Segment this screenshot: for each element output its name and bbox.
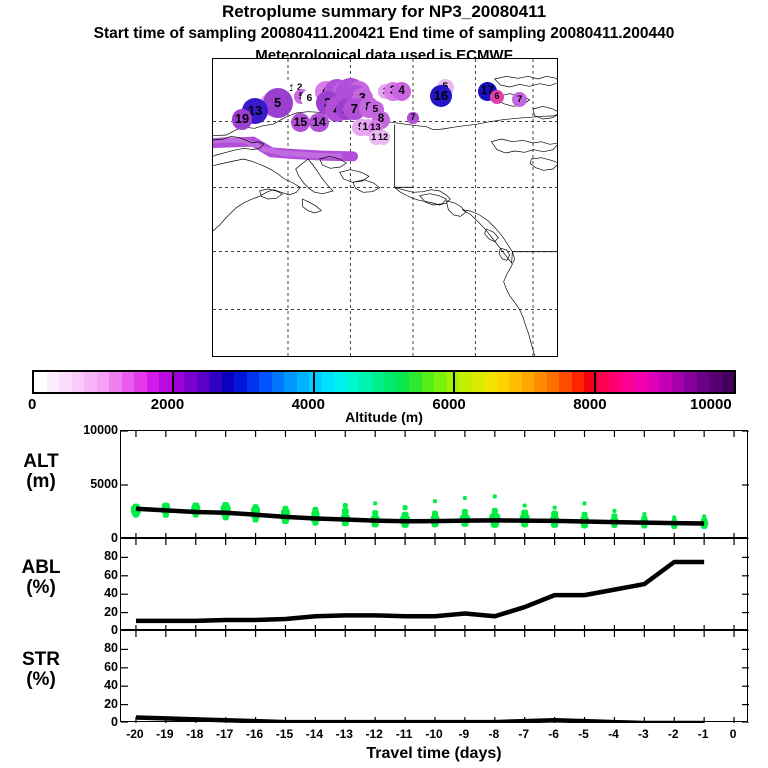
x-tick-label: -15 [276, 727, 293, 741]
x-tick-label: -5 [578, 727, 589, 741]
colorbar-swatch [159, 372, 172, 392]
y-tick-label: 0 [4, 715, 118, 729]
x-tick-label: -9 [459, 727, 470, 741]
x-tick-label: -8 [488, 727, 499, 741]
axis-ticks [121, 631, 749, 723]
colorbar-swatch [409, 372, 422, 392]
y-tick-label: 40 [4, 586, 118, 600]
colorbar-swatch [184, 372, 197, 392]
x-tick-label: -17 [216, 727, 233, 741]
y-tick-label: 10000 [4, 423, 118, 437]
mean-line [136, 717, 704, 723]
x-tick-label: -14 [306, 727, 323, 741]
x-tick-label: -3 [638, 727, 649, 741]
plume-marker: 7 [407, 112, 418, 123]
plume-marker: 15 [291, 113, 311, 133]
y-tick-label: 60 [4, 660, 118, 674]
colorbar-swatch [72, 372, 85, 392]
colorbar-swatch [247, 372, 260, 392]
mean-line [136, 562, 704, 621]
plume-marker: 12 [376, 130, 390, 144]
y-tick-label: 60 [4, 568, 118, 582]
x-tick-label: -19 [156, 727, 173, 741]
x-tick-label: -4 [608, 727, 619, 741]
colorbar-swatch [284, 372, 297, 392]
colorbar-swatch [622, 372, 635, 392]
colorbar-swatch [322, 372, 335, 392]
colorbar-swatch [59, 372, 72, 392]
colorbar-swatch [384, 372, 397, 392]
colorbar-separator [453, 370, 455, 394]
colorbar-swatch [147, 372, 160, 392]
colorbar-swatch [297, 372, 310, 392]
abl-plot [121, 539, 749, 631]
x-tick-label: -13 [336, 727, 353, 741]
colorbar-swatch [334, 372, 347, 392]
colorbar-swatch [234, 372, 247, 392]
colorbar-separator [313, 370, 315, 394]
colorbar-swatch [84, 372, 97, 392]
colorbar-swatch [309, 372, 322, 392]
y-tick-label: 0 [4, 623, 118, 637]
colorbar-swatch [197, 372, 210, 392]
x-tick-label: -2 [668, 727, 679, 741]
plume-marker: 4 [392, 82, 411, 101]
colorbar-swatch [572, 372, 585, 392]
colorbar-swatch [434, 372, 447, 392]
x-tick-label: -7 [518, 727, 529, 741]
colorbar-swatch [97, 372, 110, 392]
altitude-plot [121, 431, 749, 539]
page-title: Retroplume summary for NP3_20080411 [0, 2, 768, 22]
colorbar-separator [172, 370, 174, 394]
colorbar-swatch [509, 372, 522, 392]
y-tick-label: 0 [4, 531, 118, 545]
colorbar-swatch [122, 372, 135, 392]
x-tick-label: -6 [548, 727, 559, 741]
map-inner-border [395, 125, 558, 252]
colorbar-swatch [347, 372, 360, 392]
plume-marker: 19 [232, 109, 253, 130]
colorbar-swatch [697, 372, 710, 392]
colorbar-swatch [34, 372, 47, 392]
colorbar-swatch [272, 372, 285, 392]
x-tick-label: -18 [186, 727, 203, 741]
x-tick-label: -11 [396, 727, 413, 741]
colorbar-swatch [372, 372, 385, 392]
colorbar-swatch [109, 372, 122, 392]
colorbar-swatch [597, 372, 610, 392]
colorbar-swatch [684, 372, 697, 392]
plume-marker: 14 [309, 113, 329, 133]
colorbar-swatch [722, 372, 735, 392]
colorbar-swatch [547, 372, 560, 392]
colorbar-swatch [634, 372, 647, 392]
colorbar-swatch [659, 372, 672, 392]
colorbar-swatch [472, 372, 485, 392]
x-tick-label: -16 [246, 727, 263, 741]
colorbar-swatch [259, 372, 272, 392]
y-tick-label: 5000 [4, 477, 118, 491]
colorbar-swatch [422, 372, 435, 392]
colorbar-swatch [397, 372, 410, 392]
sampling-time-subtitle: Start time of sampling 20080411.200421 E… [0, 25, 768, 43]
colorbar-swatch [522, 372, 535, 392]
abl-timeseries-panel [120, 538, 748, 630]
colorbar-separator [594, 370, 596, 394]
str-plot [121, 631, 749, 723]
y-tick-label: 20 [4, 697, 118, 711]
colorbar-swatch [647, 372, 660, 392]
colorbar-swatch [47, 372, 60, 392]
mean-line [136, 509, 704, 524]
x-tick-label: -12 [366, 727, 383, 741]
colorbar-swatch [134, 372, 147, 392]
plume-trail [213, 140, 353, 156]
x-tick-label: -20 [126, 727, 143, 741]
str-timeseries-panel [120, 630, 748, 722]
colorbar-swatch [209, 372, 222, 392]
colorbar-swatch [559, 372, 572, 392]
x-tick-label: 0 [730, 727, 737, 741]
y-tick-label: 80 [4, 641, 118, 655]
colorbar-swatch [672, 372, 685, 392]
colorbar-swatch [359, 372, 372, 392]
altitude-colorbar [32, 370, 736, 394]
x-tick-label: -10 [425, 727, 442, 741]
colorbar-swatch [709, 372, 722, 392]
colorbar-swatch [484, 372, 497, 392]
y-tick-label: 20 [4, 605, 118, 619]
retroplume-map: 1256643231323451617679521213427851915148… [212, 58, 558, 357]
altitude-timeseries-panel [120, 430, 748, 538]
colorbar-swatch [609, 372, 622, 392]
colorbar-swatch [459, 372, 472, 392]
colorbar-swatch [222, 372, 235, 392]
x-axis-title: Travel time (days) [120, 745, 748, 763]
y-tick-label: 40 [4, 678, 118, 692]
colorbar-swatch [534, 372, 547, 392]
y-tick-label: 80 [4, 549, 118, 563]
colorbar-swatch [497, 372, 510, 392]
x-tick-label: -1 [698, 727, 709, 741]
